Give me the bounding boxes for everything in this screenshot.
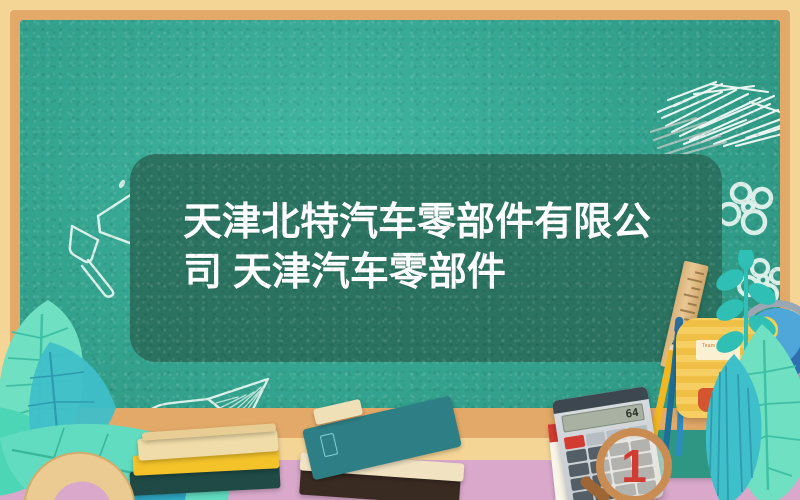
calculator-key[interactable] <box>566 449 587 464</box>
leaf <box>698 352 778 500</box>
title-line-1: 天津北特汽车零部件有限公 <box>183 198 703 248</box>
title-line-2: 司 天津汽车零部件 <box>183 248 703 298</box>
magnified-number: 1 <box>596 428 672 500</box>
calculator-key-ac[interactable] <box>564 435 585 450</box>
chalk-scribble <box>650 66 780 156</box>
page-title: 天津北特汽车零部件有限公 司 天津汽车零部件 <box>183 198 703 298</box>
magnifying-glass: 1 <box>596 428 672 500</box>
flower-doodle <box>714 180 780 244</box>
screenshot-root: 天津北特汽车零部件有限公 司 天津汽车零部件 <box>0 0 800 500</box>
megaphone-doodle <box>54 172 160 300</box>
chalk-dash-marks <box>130 210 200 280</box>
title-panel <box>130 154 722 362</box>
